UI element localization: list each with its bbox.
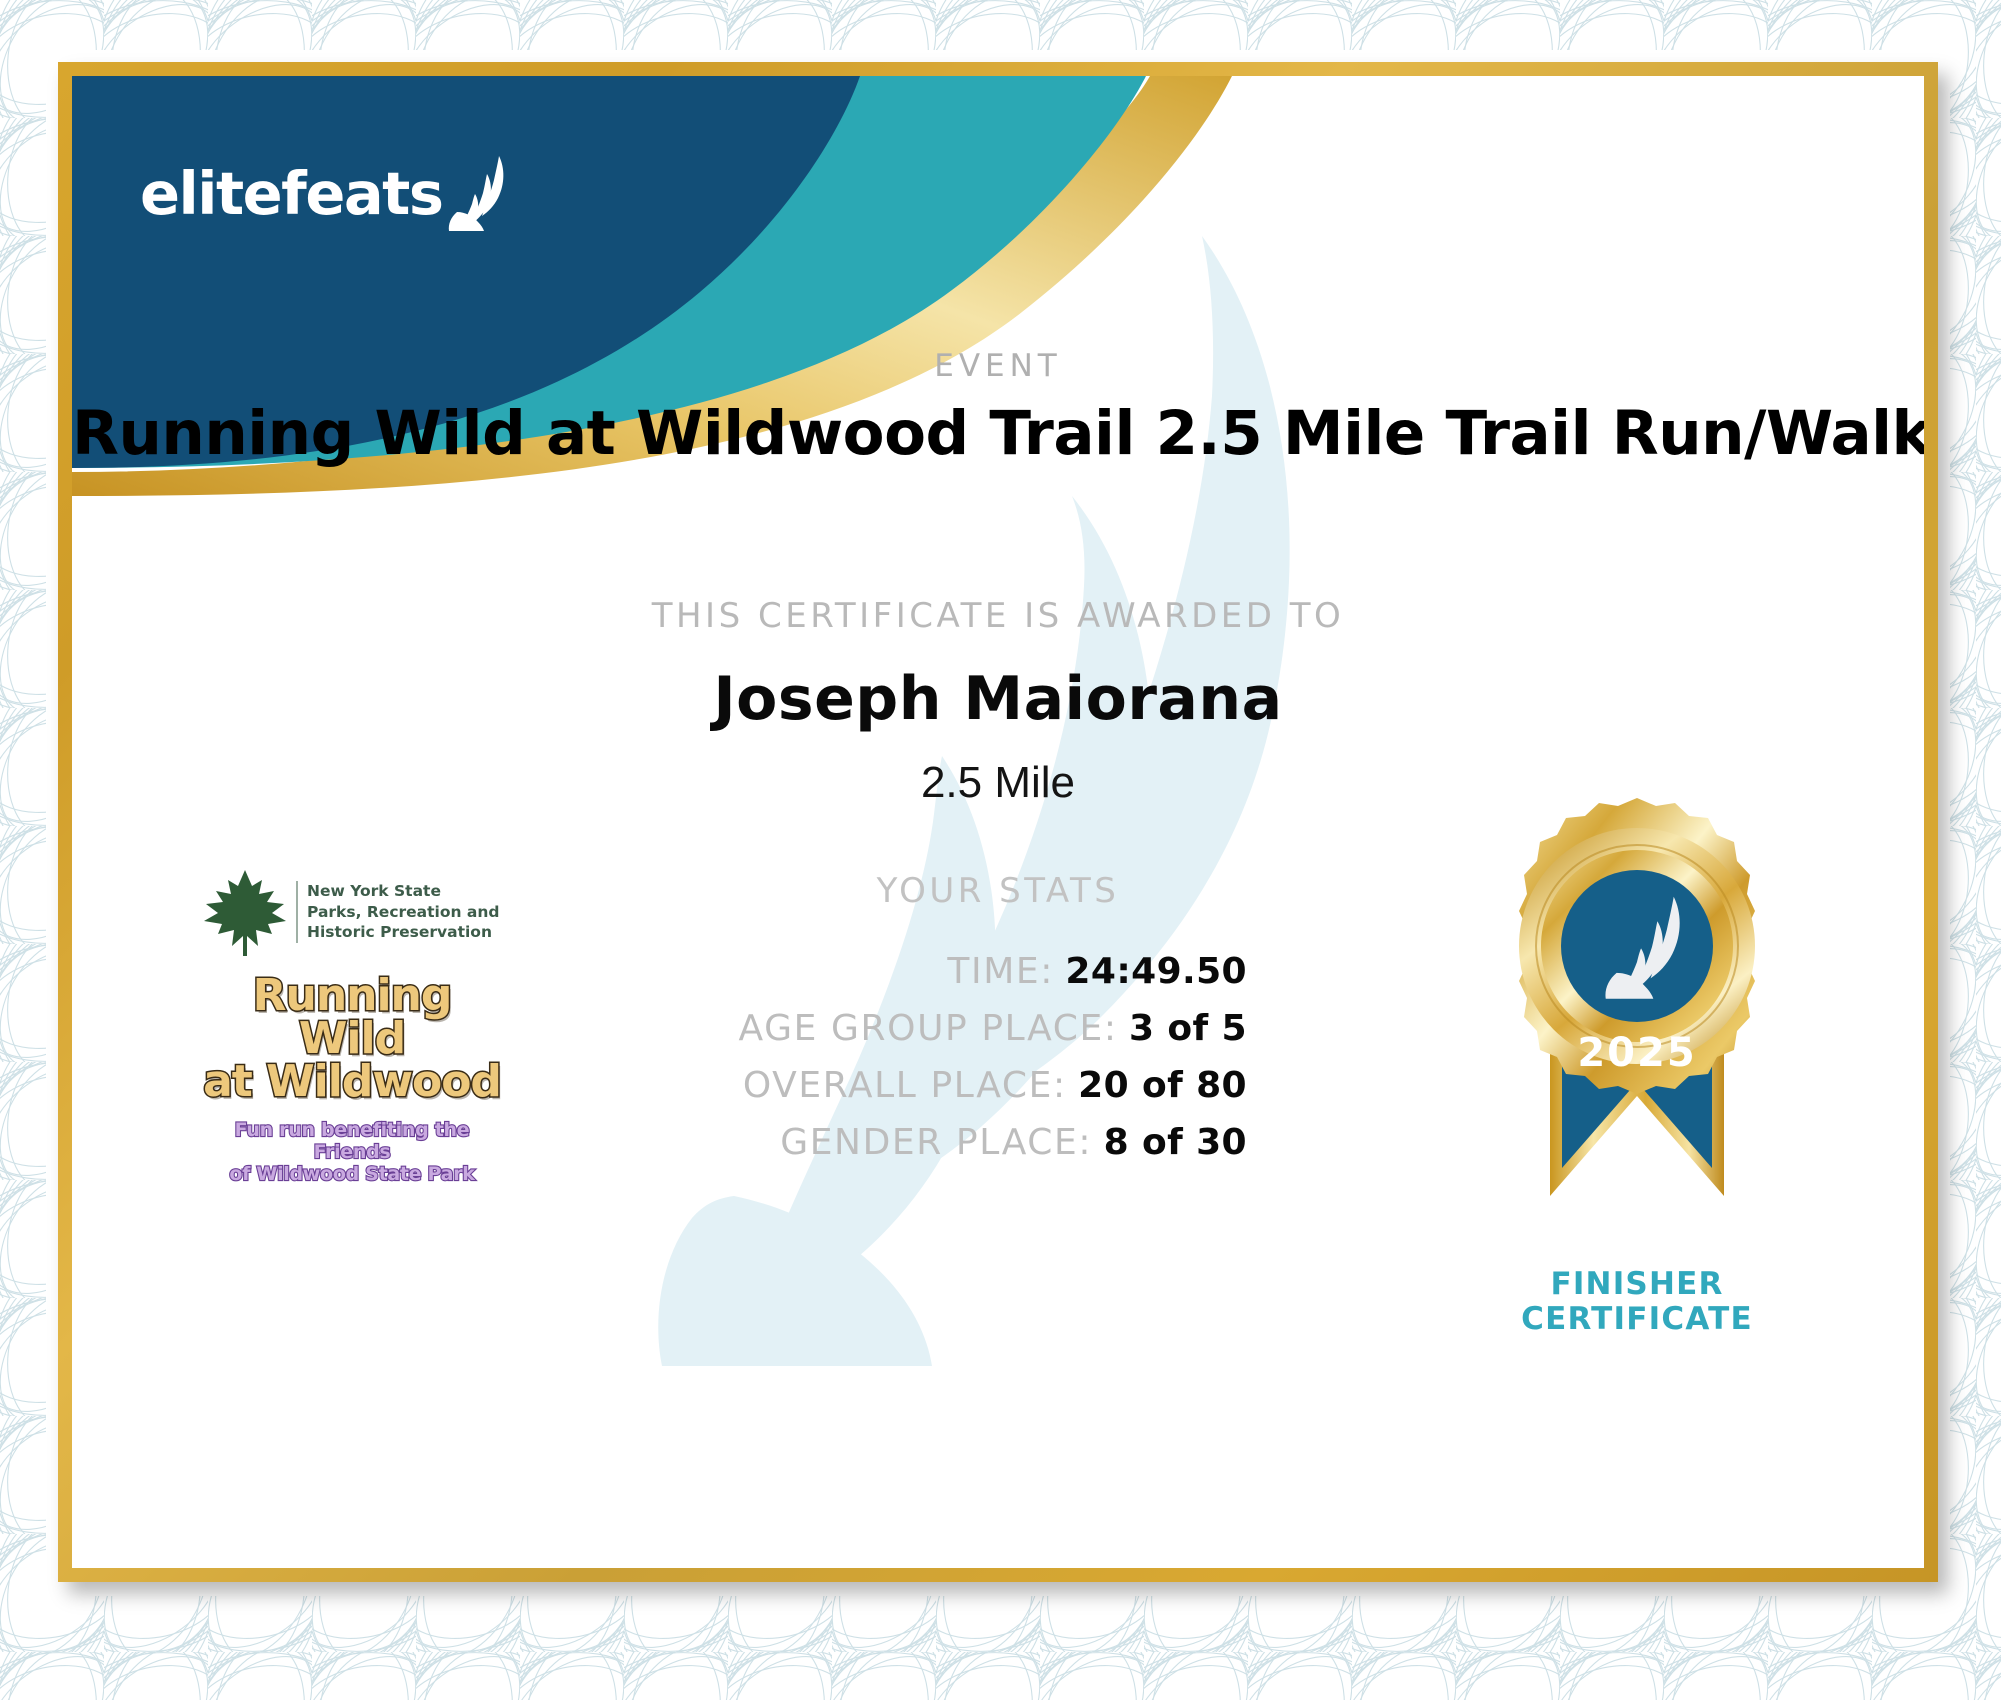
nys-parks-text: New York State Parks, Recreation and His…	[296, 881, 500, 943]
certificate-content: EVENT Running Wild at Wildwood Trail 2.5…	[72, 76, 1924, 1568]
recipient-name: Joseph Maiorana	[72, 664, 1924, 734]
awarded-to-label: THIS CERTIFICATE IS AWARDED TO	[72, 596, 1924, 636]
running-wild-line2: at Wildwood	[202, 1060, 502, 1103]
stat-key: AGE GROUP PLACE:	[739, 1008, 1118, 1049]
nys-parks-line1: New York State	[307, 881, 500, 902]
running-wild-tagline-line1: Fun run benefiting the Friends	[202, 1120, 502, 1163]
stat-value: 8 of 30	[1104, 1122, 1247, 1163]
brand-wordmark: elitefeats	[140, 164, 443, 223]
running-wild-tagline: Fun run benefiting the Friends of Wildwo…	[202, 1120, 502, 1185]
badge-year: 2025	[1577, 1030, 1696, 1076]
finisher-badge: 2025 FINISHER CERTIFICATE	[1472, 796, 1802, 1336]
running-wild-logo: Running Wild at Wildwood Fun run benefit…	[202, 974, 502, 1185]
medal-ribbon-graphic: 2025	[1472, 796, 1802, 1256]
badge-caption-line1: FINISHER	[1472, 1267, 1802, 1302]
running-wild-line1: Running Wild	[202, 974, 502, 1060]
certificate-page: elitefeats EVENT Running Wild at Wildwoo…	[0, 0, 2001, 1700]
nys-parks-line3: Historic Preservation	[307, 922, 500, 943]
running-wild-tagline-line2: of Wildwood State Park	[202, 1164, 502, 1186]
stat-key: OVERALL PLACE:	[743, 1065, 1067, 1106]
badge-caption-line2: CERTIFICATE	[1472, 1302, 1802, 1337]
gold-border-frame: elitefeats EVENT Running Wild at Wildwoo…	[58, 62, 1938, 1582]
stat-key: TIME:	[947, 951, 1054, 992]
winged-foot-icon	[447, 154, 517, 232]
stat-value: 24:49.50	[1065, 951, 1247, 992]
stat-value: 3 of 5	[1129, 1008, 1247, 1049]
badge-caption: FINISHER CERTIFICATE	[1472, 1267, 1802, 1336]
certificate-body: elitefeats EVENT Running Wild at Wildwoo…	[72, 76, 1924, 1568]
event-label: EVENT	[72, 348, 1924, 384]
sponsor-logos: New York State Parks, Recreation and His…	[202, 866, 502, 1185]
stat-key: GENDER PLACE:	[780, 1122, 1092, 1163]
nys-parks-line2: Parks, Recreation and	[307, 902, 500, 923]
event-title: Running Wild at Wildwood Trail 2.5 Mile …	[72, 398, 1924, 469]
stat-value: 20 of 80	[1078, 1065, 1247, 1106]
maple-leaf-icon	[202, 866, 288, 958]
nys-parks-logo: New York State Parks, Recreation and His…	[202, 866, 502, 958]
elitefeats-logo: elitefeats	[140, 154, 517, 232]
